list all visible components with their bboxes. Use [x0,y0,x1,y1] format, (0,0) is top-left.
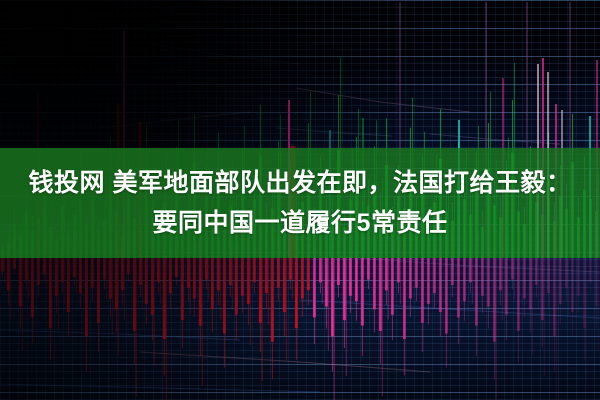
headline-banner: 钱投网 美军地面部队出发在即，法国打给王毅： 要同中国一道履行5常责任 [0,148,600,258]
headline-line-2: 要同中国一道履行5常责任 [153,203,448,243]
article-hero-image: 钱投网 美军地面部队出发在即，法国打给王毅： 要同中国一道履行5常责任 [0,0,600,400]
headline-line-1: 钱投网 美军地面部队出发在即，法国打给王毅： [29,163,572,203]
